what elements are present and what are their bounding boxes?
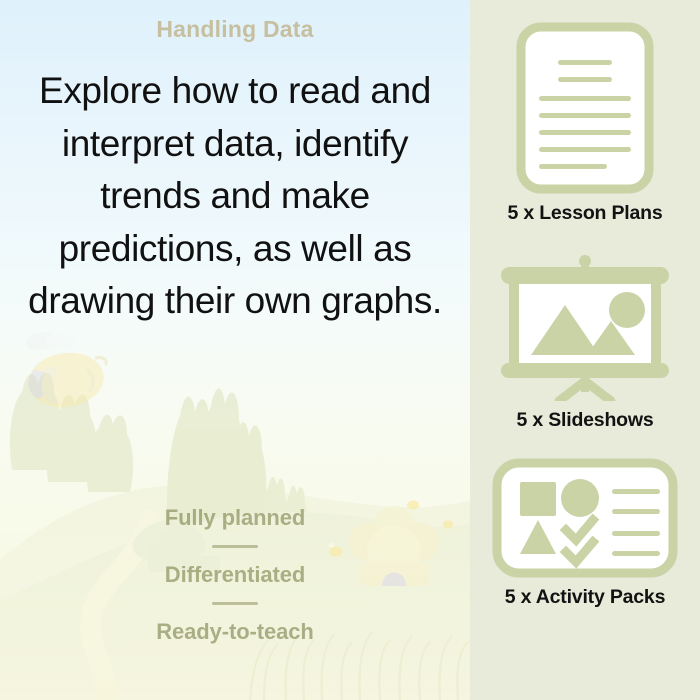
presentation-screen-icon <box>495 251 675 401</box>
feature-item-fully-planned: Fully planned <box>165 505 306 531</box>
poster-root: Handling Data Explore how to read and in… <box>0 0 700 700</box>
left-panel: Handling Data Explore how to read and in… <box>0 0 470 700</box>
page-title: Handling Data <box>156 16 313 43</box>
resource-item-lesson-plans[interactable]: 5 x Lesson Plans <box>470 22 700 225</box>
feature-divider <box>212 545 258 548</box>
activity-card-icon <box>492 458 678 578</box>
feature-item-ready-to-teach: Ready-to-teach <box>156 619 314 645</box>
resource-label-slideshows: 5 x Slideshows <box>516 409 653 432</box>
feature-list: Fully planned Differentiated Ready-to-te… <box>0 505 470 645</box>
resource-item-slideshows[interactable]: 5 x Slideshows <box>470 251 700 432</box>
resource-label-lesson-plans: 5 x Lesson Plans <box>507 202 662 225</box>
resource-item-activity-packs[interactable]: 5 x Activity Packs <box>470 458 700 609</box>
document-lines-icon <box>516 22 654 194</box>
feature-item-differentiated: Differentiated <box>165 562 305 588</box>
feature-divider <box>212 602 258 605</box>
resource-label-activity-packs: 5 x Activity Packs <box>505 586 665 609</box>
resources-panel: 5 x Lesson Plans <box>470 0 700 700</box>
description-text: Explore how to read and interpret data, … <box>25 65 445 328</box>
